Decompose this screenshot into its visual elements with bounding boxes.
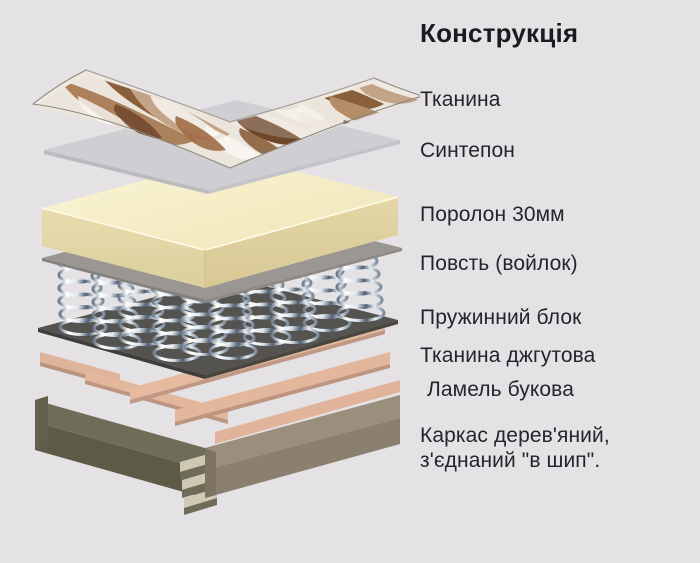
label-jute-fabric: Тканина джгутова: [420, 344, 595, 368]
layers-svg: [0, 0, 420, 563]
label-foam: Поролон 30мм: [420, 203, 565, 227]
label-wooden-frame: Каркас дерев'яний, з'єднаний "в шип".: [420, 424, 700, 474]
label-fabric: Тканина: [420, 88, 501, 112]
exploded-layer-diagram: [0, 0, 420, 563]
label-felt: Повсть (войлок): [420, 252, 578, 276]
page-title: Конструкція: [420, 18, 578, 49]
label-wooden-frame-line1: Каркас дерев'яний,: [420, 424, 700, 449]
frame-rail-left-end: [35, 396, 48, 450]
label-spring-block: Пружинний блок: [420, 306, 581, 330]
label-wooden-frame-line2: з'єднаний "в шип".: [420, 449, 700, 474]
label-sintepon: Синтепон: [420, 139, 515, 163]
label-beech-lamella: Ламель букова: [427, 378, 574, 402]
label-column: Конструкція Тканина Синтепон Поролон 30м…: [415, 0, 700, 563]
frame-rail-corner: [205, 448, 216, 498]
diagram-canvas: Конструкція Тканина Синтепон Поролон 30м…: [0, 0, 700, 563]
